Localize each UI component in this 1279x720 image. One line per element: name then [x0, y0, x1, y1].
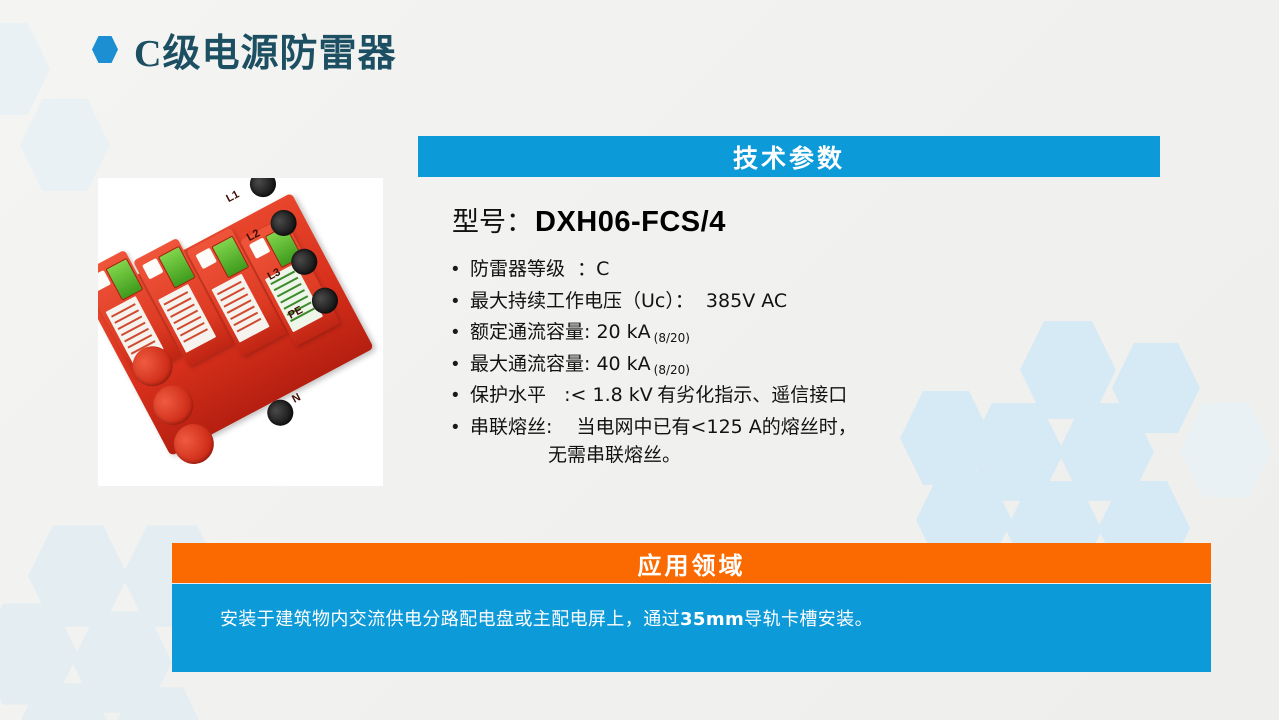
application-text-suffix: 导轨卡槽安装。: [744, 609, 873, 630]
hexagon-decoration: [0, 600, 78, 708]
application-body-text: 安装于建筑物内交流供电分路配电盘或主配电屏上，通过35mm导轨卡槽安装。: [220, 605, 873, 631]
spd-device-illustration: L1 L2 L3 PE N: [98, 178, 383, 481]
page-title-row: C级电源防雷器: [92, 22, 396, 77]
terminal-label-l1: L1: [224, 188, 241, 205]
spec-item: • 串联熔丝: 当电网中已有<125 A的熔丝时， 无需串联熔丝。: [452, 414, 1152, 469]
product-image-canvas: L1 L2 L3 PE N: [98, 178, 383, 486]
spec-item: • 保护水平 :< 1.8 kV 有劣化指示、遥信接口: [452, 382, 1152, 410]
spec-main: 额定通流容量: 20 kA: [470, 321, 651, 343]
hexagon-decoration: [0, 20, 50, 118]
hexagon-decoration: [14, 680, 114, 720]
application-body: 安装于建筑物内交流供电分路配电盘或主配电屏上，通过35mm导轨卡槽安装。: [172, 584, 1211, 672]
spec-text: 保护水平 :< 1.8 kV: [470, 384, 653, 406]
hexagon-decoration: [108, 684, 208, 720]
spec-text-secondary: 有劣化指示、遥信接口: [657, 384, 847, 406]
spec-text-group: 串联熔丝: 当电网中已有<125 A的熔丝时， 无需串联熔丝。: [470, 414, 857, 469]
bullet-dot: •: [452, 414, 470, 442]
spec-item: • 最大持续工作电压（Uc）： 385V AC: [452, 288, 1152, 316]
terminal-l1: [245, 178, 280, 202]
spec-item: • 最大通流容量: 40 kA(8/20): [452, 351, 1152, 379]
spec-subscript: (8/20): [651, 363, 690, 377]
spec-subscript: (8/20): [651, 331, 690, 345]
bullet-dot: •: [452, 351, 470, 379]
hexagon-decoration: [28, 522, 128, 630]
spec-text-secondary: 无需串联熔丝。: [470, 442, 857, 469]
terminal-label-n: N: [290, 391, 303, 405]
model-line: 型号： DXH06-FCS/4: [452, 200, 726, 239]
hexagon-decoration: [72, 608, 172, 716]
spec-text: 防雷器等级 ：C: [470, 256, 609, 283]
spec-text: 最大通流容量: 40 kA(8/20): [470, 351, 690, 378]
application-header: 应用领域: [172, 543, 1211, 583]
spec-list: • 防雷器等级 ：C • 最大持续工作电压（Uc）： 385V AC • 额定通…: [452, 256, 1152, 473]
spec-text: 额定通流容量: 20 kA(8/20): [470, 319, 690, 346]
application-header-label: 应用领域: [638, 546, 746, 581]
model-label: 型号：: [452, 200, 533, 239]
model-value: DXH06-FCS/4: [535, 206, 726, 239]
spec-item: • 防雷器等级 ：C: [452, 256, 1152, 284]
spec-main: 最大通流容量: 40 kA: [470, 353, 651, 375]
bullet-dot: •: [452, 256, 470, 284]
bullet-dot: •: [452, 288, 470, 316]
spec-text: 最大持续工作电压（Uc）： 385V AC: [470, 288, 787, 315]
hexagon-icon: [92, 36, 118, 64]
product-image: L1 L2 L3 PE N: [98, 178, 383, 486]
tech-params-header-label: 技术参数: [733, 139, 845, 175]
spec-text: 串联熔丝: 当电网中已有<125 A的熔丝时，: [470, 416, 857, 438]
hexagon-decoration: [20, 96, 110, 194]
application-text-bold: 35mm: [680, 609, 744, 630]
bullet-dot: •: [452, 382, 470, 410]
spec-item: • 额定通流容量: 20 kA(8/20): [452, 319, 1152, 347]
spec-text-group: 保护水平 :< 1.8 kV 有劣化指示、遥信接口: [470, 382, 847, 409]
tech-params-header: 技术参数: [418, 136, 1160, 177]
application-text-prefix: 安装于建筑物内交流供电分路配电盘或主配电屏上，通过: [220, 609, 680, 630]
slide-canvas: C级电源防雷器: [0, 0, 1279, 720]
bullet-dot: •: [452, 319, 470, 347]
hexagon-decoration: [1180, 400, 1272, 500]
page-title: C级电源防雷器: [134, 22, 396, 77]
